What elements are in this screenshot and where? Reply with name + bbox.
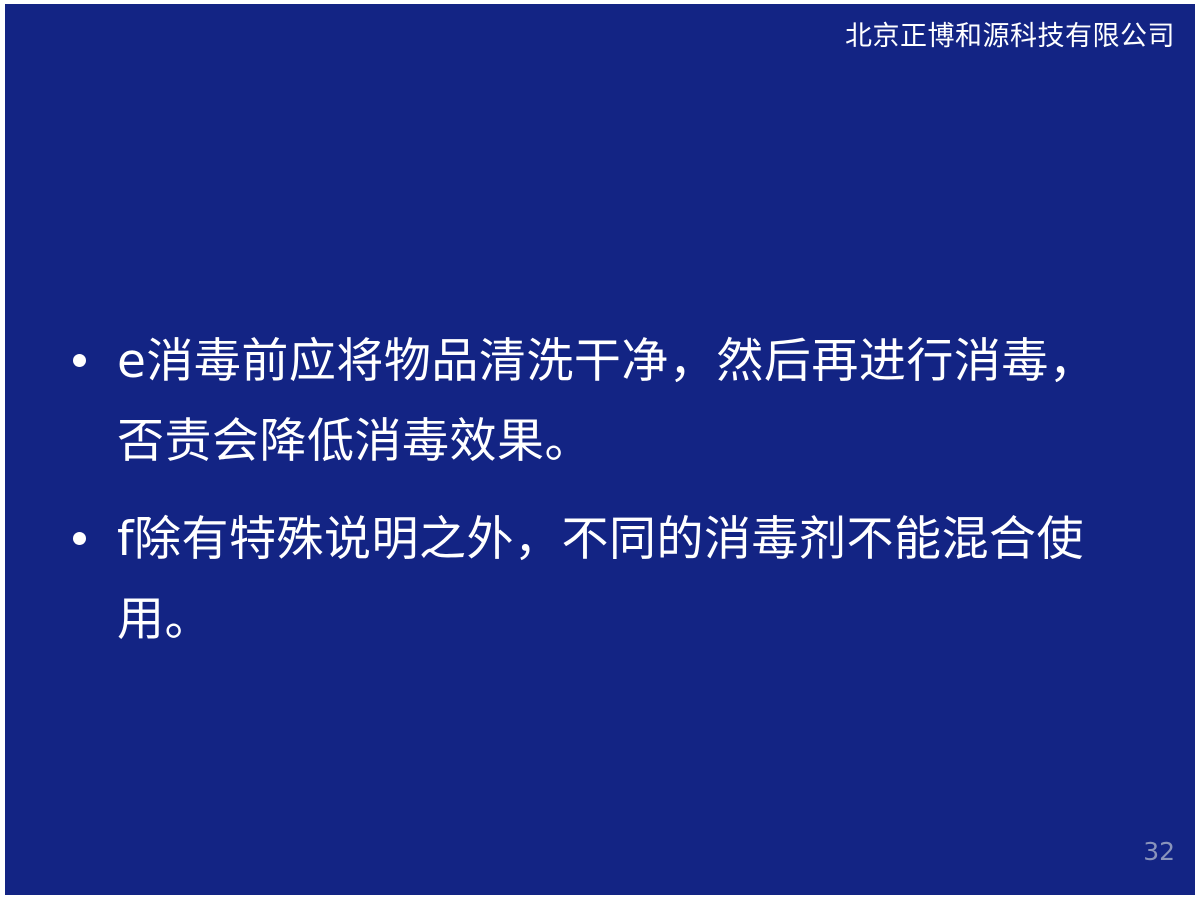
list-item: e消毒前应将物品清洗干净，然后再进行消毒，否责会降低消毒效果。 [65, 322, 1120, 482]
list-item-text: f除有特殊说明之外，不同的消毒剂不能混合使用。 [117, 500, 1120, 660]
slide: 北京正博和源科技有限公司 e消毒前应将物品清洗干净，然后再进行消毒，否责会降低消… [0, 0, 1200, 900]
bullet-dot-icon [73, 354, 86, 367]
list-item-text: e消毒前应将物品清洗干净，然后再进行消毒，否责会降低消毒效果。 [117, 322, 1120, 482]
list-item: f除有特殊说明之外，不同的消毒剂不能混合使用。 [65, 500, 1120, 660]
company-header: 北京正博和源科技有限公司 [305, 20, 1175, 54]
bullet-list: e消毒前应将物品清洗干净，然后再进行消毒，否责会降低消毒效果。 f除有特殊说明之… [65, 322, 1120, 660]
bullet-dot-icon [73, 532, 86, 545]
page-number: 32 [1143, 837, 1175, 867]
slide-canvas: 北京正博和源科技有限公司 e消毒前应将物品清洗干净，然后再进行消毒，否责会降低消… [5, 4, 1195, 895]
